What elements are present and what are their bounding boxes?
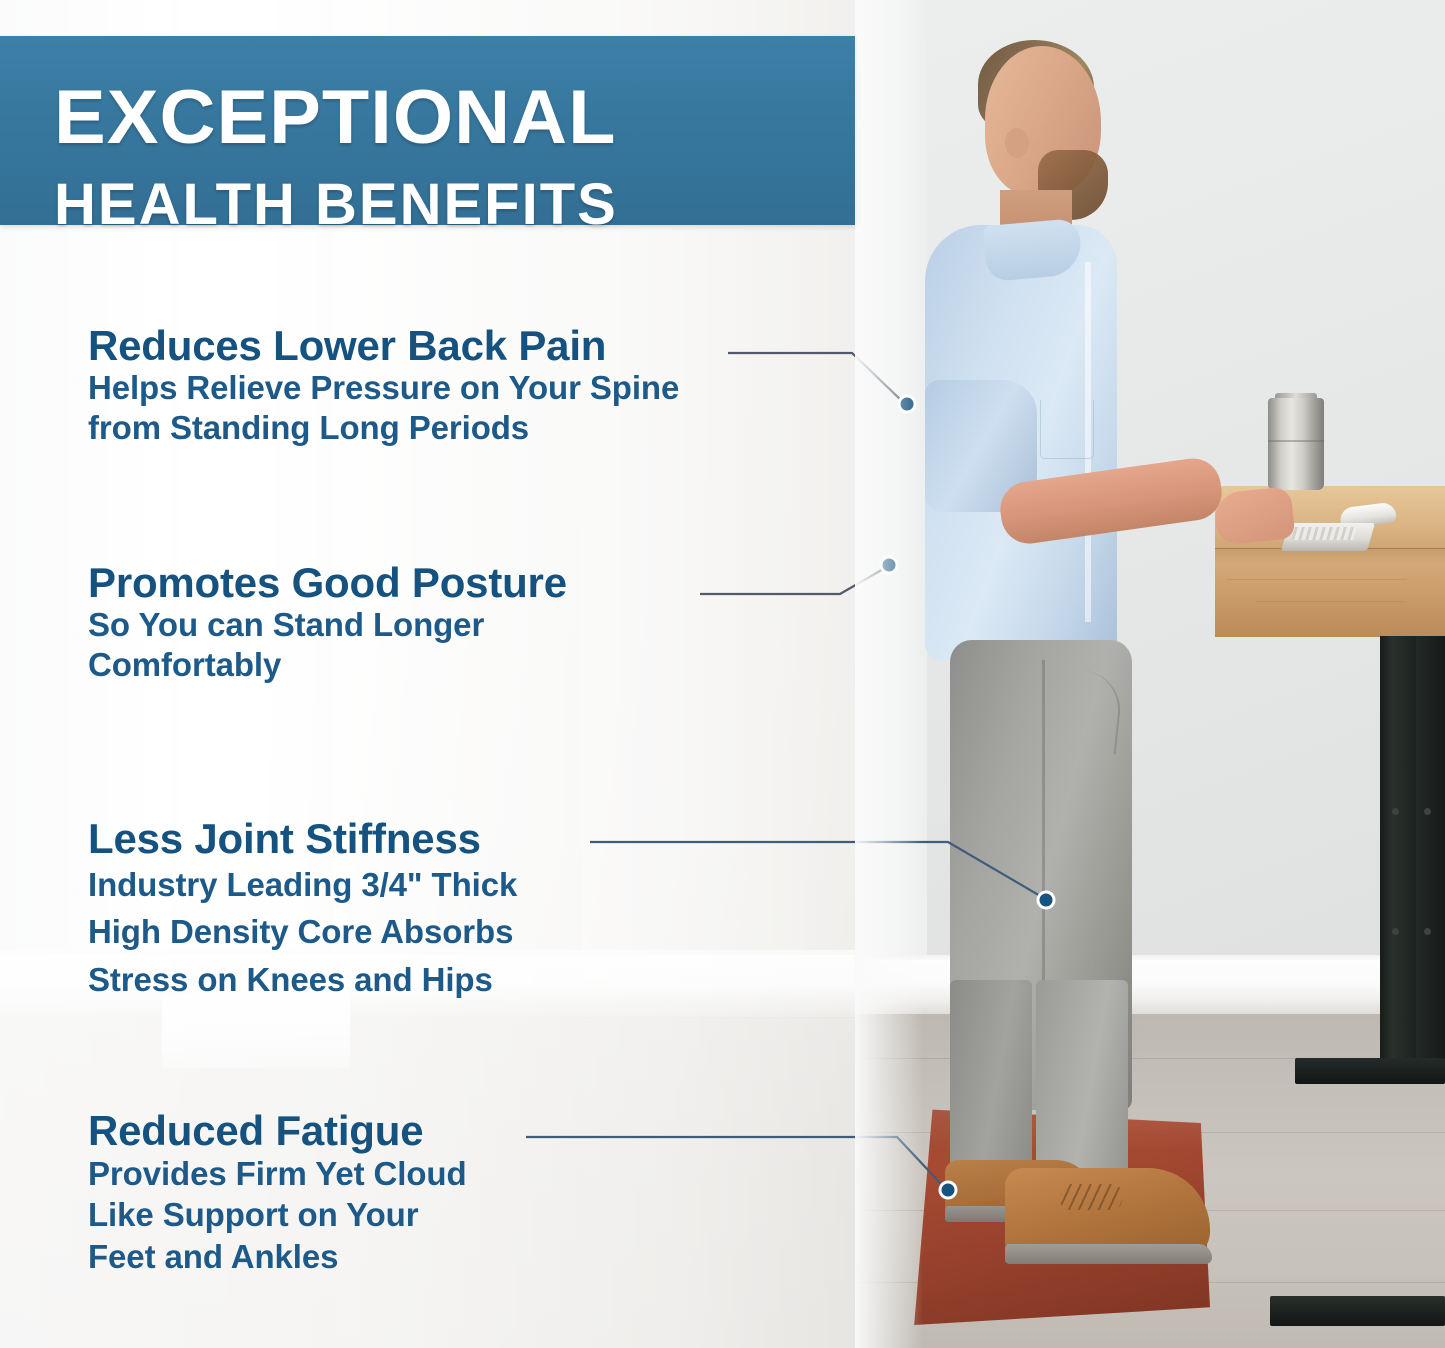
benefit-2-title: Promotes Good Posture — [88, 562, 788, 605]
desk-leg-lower — [1416, 636, 1445, 1066]
photo-left-edge-fade — [855, 0, 923, 1348]
benefit-4-line-2: Like Support on Your — [88, 1194, 788, 1236]
benefit-2-line-2: Comfortably — [88, 645, 788, 685]
keyboard-keys — [1291, 527, 1357, 540]
desk-edge — [1215, 548, 1445, 637]
benefit-2-line-1: So You can Stand Longer — [88, 605, 788, 645]
person-shoe-front-sole — [1005, 1244, 1212, 1264]
benefit-1-line-1: Helps Relieve Pressure on Your Spine — [88, 368, 788, 408]
benefit-3-line-3: Stress on Knees and Hips — [88, 956, 788, 1004]
benefit-block-1: Reduces Lower Back Pain Helps Relieve Pr… — [88, 325, 788, 448]
person-ear — [1005, 128, 1029, 158]
header-banner: EXCEPTIONAL HEALTH BENEFITS — [0, 36, 857, 225]
desk-leg-upper — [1380, 636, 1416, 1066]
benefit-3-line-2: High Density Core Absorbs — [88, 908, 788, 956]
benefit-block-3: Less Joint Stiffness Industry Leading 3/… — [88, 818, 788, 1003]
desk-foot-front — [1270, 1296, 1445, 1326]
person-shirt-pocket — [1040, 400, 1094, 459]
banner-title-line-2: HEALTH BENEFITS — [54, 176, 854, 234]
desk-foot-rear — [1295, 1058, 1445, 1084]
tumbler-seam — [1268, 440, 1324, 442]
benefit-3-line-1: Industry Leading 3/4" Thick — [88, 861, 788, 909]
benefit-3-title: Less Joint Stiffness — [88, 818, 788, 861]
benefit-block-2: Promotes Good Posture So You can Stand L… — [88, 562, 788, 685]
infographic-root: EXCEPTIONAL HEALTH BENEFITS — [0, 0, 1445, 1348]
benefit-4-title: Reduced Fatigue — [88, 1110, 788, 1153]
benefit-4-line-3: Feet and Ankles — [88, 1236, 788, 1278]
benefit-1-line-2: from Standing Long Periods — [88, 408, 788, 448]
photo-baseboard — [855, 960, 1445, 1016]
person-shoe-laces — [1060, 1184, 1122, 1210]
benefit-1-title: Reduces Lower Back Pain — [88, 325, 788, 368]
benefit-4-line-1: Provides Firm Yet Cloud — [88, 1153, 788, 1195]
stainless-tumbler — [1268, 398, 1324, 490]
benefit-block-4: Reduced Fatigue Provides Firm Yet Cloud … — [88, 1110, 788, 1278]
person-left-leg — [950, 980, 1032, 1185]
banner-title-line-1: EXCEPTIONAL — [54, 82, 870, 155]
